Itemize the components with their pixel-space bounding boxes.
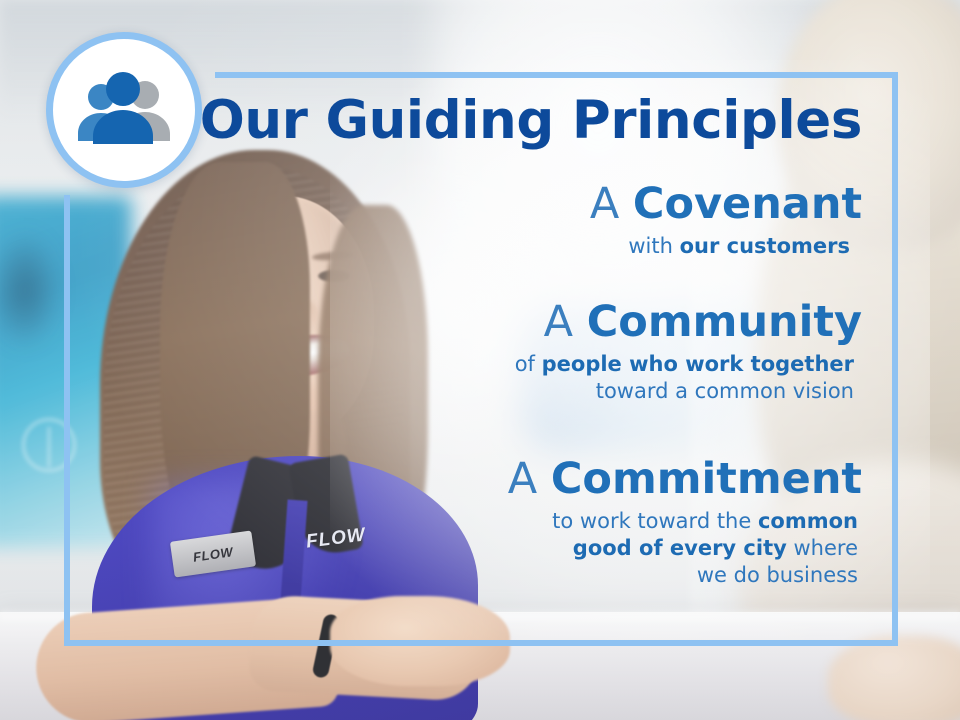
banner-text-column: Our Guiding Principles A Covenant with o… (64, 72, 898, 646)
principle-commitment-subline-3: we do business (64, 562, 858, 589)
principle-covenant-lead: A (590, 179, 633, 229)
principle-community: A Community of people who work together … (64, 300, 862, 405)
principle-community-subline-2: toward a common vision (64, 378, 854, 405)
principle-community-subtext: of people who work together toward a com… (64, 351, 862, 406)
principle-commitment-subline-2: good of every city where (64, 535, 858, 562)
blurred-car-shadow (0, 230, 60, 350)
customer-hand (828, 636, 960, 720)
guiding-principles-banner: FLOW FLOW Our Guiding Princ (0, 0, 960, 720)
principle-commitment-subtext: to work toward the common good of every … (64, 508, 862, 590)
page-title: Our Guiding Principles (64, 94, 862, 147)
principle-covenant-subtext: with our customers (64, 233, 862, 260)
principle-covenant-keyword: Covenant (633, 179, 862, 229)
principle-community-keyword: Community (587, 297, 862, 347)
principle-community-lead: A (544, 297, 587, 347)
subtext-run: of (515, 352, 542, 376)
principle-commitment-lead: A (508, 454, 551, 504)
subtext-run: with (628, 234, 679, 258)
principle-commitment-title: A Commitment (64, 457, 862, 503)
principle-community-subline-1: of people who work together (64, 351, 854, 378)
subtext-run: where (787, 536, 858, 560)
principle-covenant: A Covenant with our customers (64, 182, 862, 260)
principle-commitment-keyword: Commitment (551, 454, 862, 504)
principle-commitment: A Commitment to work toward the common g… (64, 457, 862, 589)
principle-covenant-title: A Covenant (64, 182, 862, 228)
principle-commitment-subline-1: to work toward the common (64, 508, 858, 535)
principle-covenant-subline-1: with our customers (64, 233, 850, 260)
subtext-run-bold: good of every city (573, 536, 787, 560)
subtext-run: to work toward the (552, 509, 758, 533)
subtext-run-bold: our customers (680, 234, 850, 258)
subtext-run-bold: common (758, 509, 858, 533)
subtext-run-bold: people who work together (542, 352, 854, 376)
principle-community-title: A Community (64, 300, 862, 346)
